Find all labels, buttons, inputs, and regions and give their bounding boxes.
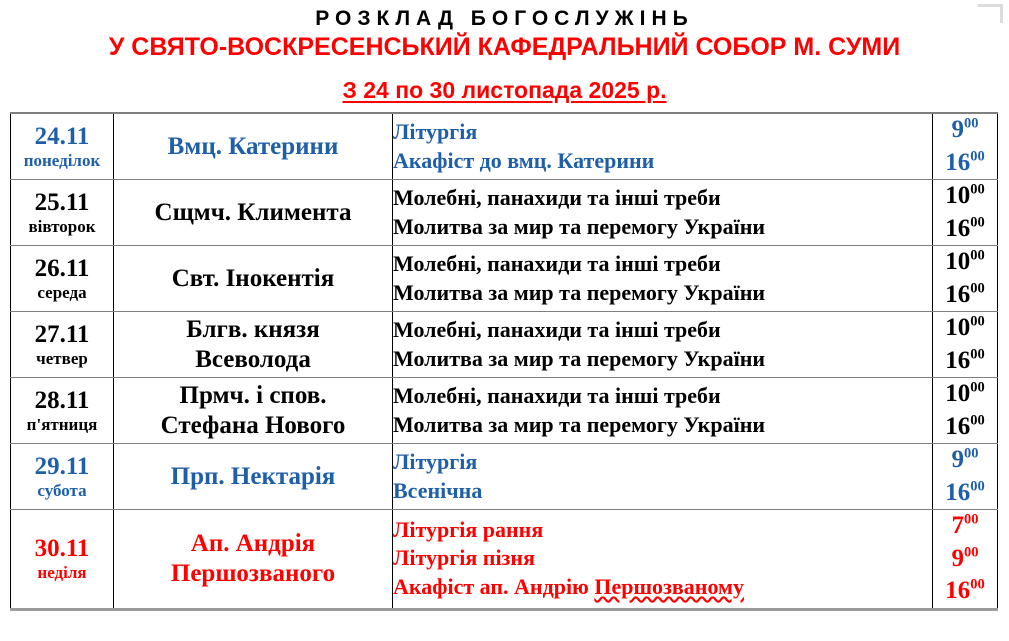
schedule-feast-cell: Блгв. князяВсеволода xyxy=(114,312,393,378)
service-time: 1600 xyxy=(933,411,997,444)
feast-line: Вмц. Катерини xyxy=(114,132,392,162)
service-line: Молебні, панахиди та інші треби xyxy=(393,184,932,213)
service-line: Акафіст до вмц. Катерини xyxy=(393,147,932,176)
date-number: 30.11 xyxy=(11,535,113,563)
time-minutes: 00 xyxy=(970,314,985,330)
schedule-service-cell: Літургія ранняЛітургія пізняАкафіст ап. … xyxy=(393,510,933,610)
date-weekday: середа xyxy=(11,283,113,302)
table-row: 28.11п'ятницяПрмч. і спов.Стефана Нового… xyxy=(11,378,998,444)
feast-line: Стефана Нового xyxy=(114,411,392,441)
schedule-time-cell: 10001600 xyxy=(933,312,998,378)
schedule-feast-cell: Прп. Нектарія xyxy=(114,444,393,510)
service-line: Молебні, панахиди та інші треби xyxy=(393,250,932,279)
time-minutes: 00 xyxy=(964,544,979,560)
service-line: Всенічна xyxy=(393,477,932,506)
time-hour: 16 xyxy=(945,281,970,308)
spellcheck-underlined-word: Першозваному xyxy=(594,574,744,599)
service-line: Літургія xyxy=(393,118,932,147)
service-schedule-table: 24.11понеділокВмц. КатериниЛітургіяАкафі… xyxy=(10,112,998,611)
service-time: 900 xyxy=(933,444,997,477)
schedule-time-cell: 9001600 xyxy=(933,444,998,510)
schedule-service-cell: Молебні, панахиди та інші требиМолитва з… xyxy=(393,378,933,444)
service-time: 1000 xyxy=(933,312,997,345)
service-line: Літургія xyxy=(393,448,932,477)
feast-line: Сщмч. Климента xyxy=(114,198,392,228)
date-weekday: субота xyxy=(11,481,113,500)
service-time: 1000 xyxy=(933,378,997,411)
schedule-date-cell: 28.11п'ятниця xyxy=(11,378,114,444)
schedule-feast-cell: Сщмч. Климента xyxy=(114,180,393,246)
time-hour: 10 xyxy=(945,182,970,209)
service-time: 1000 xyxy=(933,180,997,213)
feast-line: Свт. Інокентія xyxy=(114,264,392,294)
table-row: 29.11суботаПрп. НектаріяЛітургіяВсенічна… xyxy=(11,444,998,510)
table-row: 24.11понеділокВмц. КатериниЛітургіяАкафі… xyxy=(11,113,998,180)
feast-line: Першозваного xyxy=(114,559,392,589)
time-minutes: 00 xyxy=(970,478,985,494)
date-number: 25.11 xyxy=(11,189,113,217)
date-number: 28.11 xyxy=(11,387,113,415)
date-weekday: вівторок xyxy=(11,217,113,236)
date-weekday: четвер xyxy=(11,349,113,368)
table-row: 27.11четверБлгв. князяВсеволодаМолебні, … xyxy=(11,312,998,378)
time-hour: 16 xyxy=(945,413,970,440)
schedule-feast-cell: Ап. АндріяПершозваного xyxy=(114,510,393,610)
table-row: 25.11вівторокСщмч. КлиментаМолебні, пана… xyxy=(11,180,998,246)
schedule-date-cell: 30.11неділя xyxy=(11,510,114,610)
service-line: Молитва за мир та перемогу України xyxy=(393,411,932,440)
time-hour: 9 xyxy=(952,446,965,473)
service-line: Літургія пізня xyxy=(393,544,932,573)
service-time: 1000 xyxy=(933,246,997,279)
schedule-service-cell: Молебні, панахиди та інші требиМолитва з… xyxy=(393,246,933,312)
page-title-cathedral: У СВЯТО-ВОСКРЕСЕНСЬКИЙ КАФЕДРАЛЬНИЙ СОБО… xyxy=(0,32,1009,62)
time-minutes: 00 xyxy=(970,346,985,362)
page-title-main: РОЗКЛАД БОГОСЛУЖІНЬ xyxy=(0,6,1009,32)
time-hour: 16 xyxy=(945,149,970,176)
time-minutes: 00 xyxy=(970,577,985,593)
schedule-service-cell: Молебні, панахиди та інші требиМолитва з… xyxy=(393,312,933,378)
time-hour: 16 xyxy=(945,347,970,374)
time-minutes: 00 xyxy=(964,116,979,132)
schedule-service-cell: ЛітургіяВсенічна xyxy=(393,444,933,510)
schedule-time-cell: 10001600 xyxy=(933,246,998,312)
time-hour: 16 xyxy=(945,215,970,242)
service-time: 1600 xyxy=(933,477,997,510)
schedule-date-cell: 29.11субота xyxy=(11,444,114,510)
service-time: 900 xyxy=(933,114,997,147)
feast-line: Блгв. князя xyxy=(114,315,392,345)
time-minutes: 00 xyxy=(970,214,985,230)
schedule-date-cell: 25.11вівторок xyxy=(11,180,114,246)
service-line: Молебні, панахиди та інші треби xyxy=(393,316,932,345)
service-line: Молитва за мир та перемогу України xyxy=(393,213,932,242)
time-minutes: 00 xyxy=(970,380,985,396)
time-hour: 10 xyxy=(945,314,970,341)
service-time: 1600 xyxy=(933,213,997,246)
date-weekday: п'ятниця xyxy=(11,415,113,434)
time-hour: 10 xyxy=(945,248,970,275)
schedule-date-cell: 24.11понеділок xyxy=(11,113,114,180)
table-row: 26.11середаСвт. ІнокентіяМолебні, панахи… xyxy=(11,246,998,312)
schedule-date-cell: 27.11четвер xyxy=(11,312,114,378)
service-time: 1600 xyxy=(933,575,997,608)
schedule-feast-cell: Прмч. і спов.Стефана Нового xyxy=(114,378,393,444)
time-hour: 10 xyxy=(945,380,970,407)
date-number: 29.11 xyxy=(11,453,113,481)
feast-line: Прмч. і спов. xyxy=(114,381,392,411)
service-line: Молитва за мир та перемогу України xyxy=(393,345,932,374)
date-number: 27.11 xyxy=(11,321,113,349)
date-number: 24.11 xyxy=(11,123,113,151)
schedule-time-cell: 9001600 xyxy=(933,113,998,180)
schedule-feast-cell: Свт. Інокентія xyxy=(114,246,393,312)
service-line: Літургія рання xyxy=(393,516,932,545)
time-hour: 16 xyxy=(945,577,970,604)
service-time: 700 xyxy=(933,510,997,543)
schedule-feast-cell: Вмц. Катерини xyxy=(114,113,393,180)
feast-line: Всеволода xyxy=(114,345,392,375)
date-weekday: неділя xyxy=(11,563,113,582)
service-line: Молебні, панахиди та інші треби xyxy=(393,382,932,411)
schedule-service-cell: ЛітургіяАкафіст до вмц. Катерини xyxy=(393,113,933,180)
service-line: Молитва за мир та перемогу України xyxy=(393,279,932,308)
time-hour: 16 xyxy=(945,479,970,506)
time-minutes: 00 xyxy=(970,280,985,296)
time-minutes: 00 xyxy=(970,182,985,198)
schedule-time-cell: 10001600 xyxy=(933,180,998,246)
feast-line: Ап. Андрія xyxy=(114,529,392,559)
time-minutes: 00 xyxy=(970,148,985,164)
schedule-time-cell: 10001600 xyxy=(933,378,998,444)
page-header: РОЗКЛАД БОГОСЛУЖІНЬ У СВЯТО-ВОСКРЕСЕНСЬК… xyxy=(0,0,1009,104)
service-time: 1600 xyxy=(933,279,997,312)
time-minutes: 00 xyxy=(970,412,985,428)
schedule-service-cell: Молебні, панахиди та інші требиМолитва з… xyxy=(393,180,933,246)
table-row: 30.11неділяАп. АндріяПершозваногоЛітургі… xyxy=(11,510,998,610)
date-number: 26.11 xyxy=(11,255,113,283)
time-minutes: 00 xyxy=(970,248,985,264)
time-minutes: 00 xyxy=(964,446,979,462)
schedule-time-cell: 7009001600 xyxy=(933,510,998,610)
time-hour: 9 xyxy=(952,116,965,143)
service-time: 900 xyxy=(933,543,997,576)
service-time: 1600 xyxy=(933,147,997,180)
schedule-date-cell: 26.11середа xyxy=(11,246,114,312)
time-hour: 9 xyxy=(952,545,965,572)
time-hour: 7 xyxy=(952,512,965,539)
time-minutes: 00 xyxy=(964,512,979,528)
service-line: Акафіст ап. Андрію Першозваному xyxy=(393,573,932,602)
page-title-daterange: З 24 по 30 листопада 2025 р. xyxy=(0,76,1009,104)
feast-line: Прп. Нектарія xyxy=(114,462,392,492)
service-time: 1600 xyxy=(933,345,997,378)
date-weekday: понеділок xyxy=(11,151,113,170)
